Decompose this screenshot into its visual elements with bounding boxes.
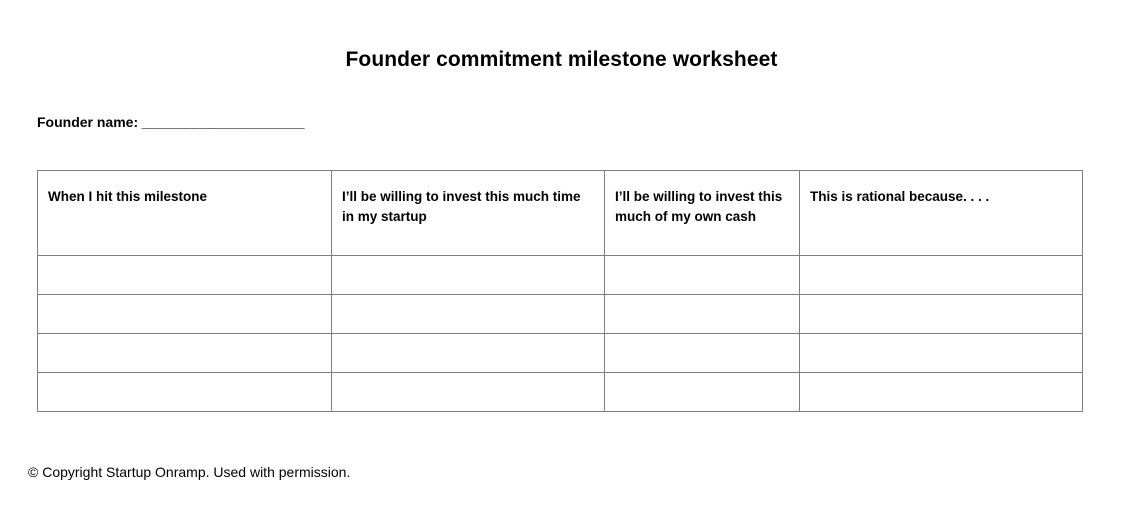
- cell-cash-investment[interactable]: [605, 373, 800, 412]
- cell-milestone[interactable]: [38, 334, 332, 373]
- table-row: [38, 256, 1083, 295]
- cell-cash-investment[interactable]: [605, 334, 800, 373]
- cell-rationale[interactable]: [800, 295, 1083, 334]
- table-row: [38, 295, 1083, 334]
- column-header-time-investment-label: I’ll be willing to invest this much time…: [332, 171, 604, 226]
- founder-name-field: Founder name: ______________________: [37, 114, 304, 130]
- table-row: [38, 373, 1083, 412]
- cell-time-investment[interactable]: [332, 256, 605, 295]
- cell-time-investment[interactable]: [332, 334, 605, 373]
- column-header-cash-investment: I’ll be willing to invest this much of m…: [605, 171, 800, 256]
- column-header-milestone-label: When I hit this milestone: [38, 171, 331, 207]
- cell-cash-investment[interactable]: [605, 256, 800, 295]
- cell-time-investment[interactable]: [332, 295, 605, 334]
- cell-cash-investment[interactable]: [605, 295, 800, 334]
- cell-milestone[interactable]: [38, 256, 332, 295]
- founder-name-blank-line[interactable]: ______________________: [138, 114, 304, 130]
- cell-rationale[interactable]: [800, 334, 1083, 373]
- founder-name-label: Founder name:: [37, 114, 138, 130]
- cell-rationale[interactable]: [800, 256, 1083, 295]
- column-header-milestone: When I hit this milestone: [38, 171, 332, 256]
- copyright-notice: © Copyright Startup Onramp. Used with pe…: [28, 464, 350, 480]
- column-header-cash-investment-label: I’ll be willing to invest this much of m…: [605, 171, 799, 226]
- column-header-rationale-label: This is rational because. . . .: [800, 171, 1082, 207]
- cell-milestone[interactable]: [38, 295, 332, 334]
- milestone-worksheet-table: When I hit this milestone I’ll be willin…: [37, 170, 1083, 412]
- page-title: Founder commitment milestone worksheet: [0, 48, 1123, 72]
- column-header-rationale: This is rational because. . . .: [800, 171, 1083, 256]
- column-header-time-investment: I’ll be willing to invest this much time…: [332, 171, 605, 256]
- table-row: [38, 334, 1083, 373]
- table-header-row: When I hit this milestone I’ll be willin…: [38, 171, 1083, 256]
- cell-milestone[interactable]: [38, 373, 332, 412]
- cell-rationale[interactable]: [800, 373, 1083, 412]
- cell-time-investment[interactable]: [332, 373, 605, 412]
